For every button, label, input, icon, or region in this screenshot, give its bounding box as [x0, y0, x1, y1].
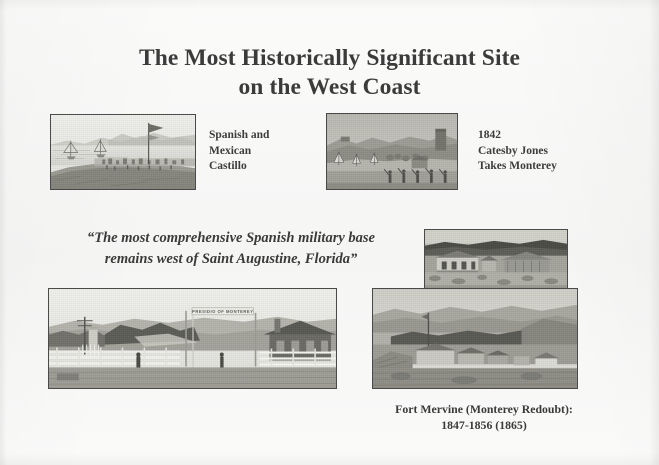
image-presidio-of-monterey-gate: PRESIDIO OF MONTEREY: [48, 288, 337, 389]
slide-title-line-1: The Most Historically Significant Site: [139, 45, 520, 71]
castillo-engraving-art: [51, 115, 195, 190]
caption-catesby-jones: 1842 Catesby Jones Takes Monterey: [478, 128, 618, 175]
fort-mervine-panorama-art: [373, 289, 577, 389]
slide-title: The Most Historically Significant Site o…: [0, 44, 659, 102]
image-catesby-jones-takes-monterey: [326, 113, 458, 190]
caption-fort-mervine: Fort Mervine (Monterey Redoubt): 1847-18…: [355, 401, 613, 433]
scan-edge-bottom: [0, 453, 659, 465]
caption-castillo-line-1: Spanish and: [209, 128, 329, 144]
caption-spanish-mexican-castillo: Spanish and Mexican Castillo: [209, 128, 329, 175]
caption-catesby-line-1: 1842: [478, 128, 618, 144]
scan-edge-top: [0, 0, 659, 10]
pull-quote-line-1: “The most comprehensive Spanish military…: [87, 230, 375, 246]
image-castillo-buildings-photo: [424, 229, 568, 289]
pull-quote: “The most comprehensive Spanish military…: [36, 228, 426, 270]
caption-castillo-line-2: Mexican: [209, 144, 329, 160]
caption-fort-mervine-line-1: Fort Mervine (Monterey Redoubt):: [395, 402, 573, 416]
slide-title-line-2: on the West Coast: [0, 73, 659, 102]
caption-castillo-line-3: Castillo: [209, 159, 329, 175]
image-spanish-mexican-castillo: [50, 114, 196, 190]
caption-catesby-line-3: Takes Monterey: [478, 159, 618, 175]
presidio-gate-photo-art: PRESIDIO OF MONTEREY: [49, 289, 336, 389]
caption-catesby-line-2: Catesby Jones: [478, 144, 618, 160]
catesby-jones-engraving-art: [327, 114, 457, 190]
caption-fort-mervine-line-2: 1847-1856 (1865): [355, 417, 613, 433]
castillo-buildings-photo-art: [425, 230, 567, 289]
slide-page: The Most Historically Significant Site o…: [0, 0, 659, 465]
pull-quote-line-2: remains west of Saint Augustine, Florida…: [36, 249, 426, 270]
image-fort-mervine-panorama: [372, 288, 578, 389]
presidio-sign-text: PRESIDIO OF MONTEREY: [192, 309, 253, 314]
